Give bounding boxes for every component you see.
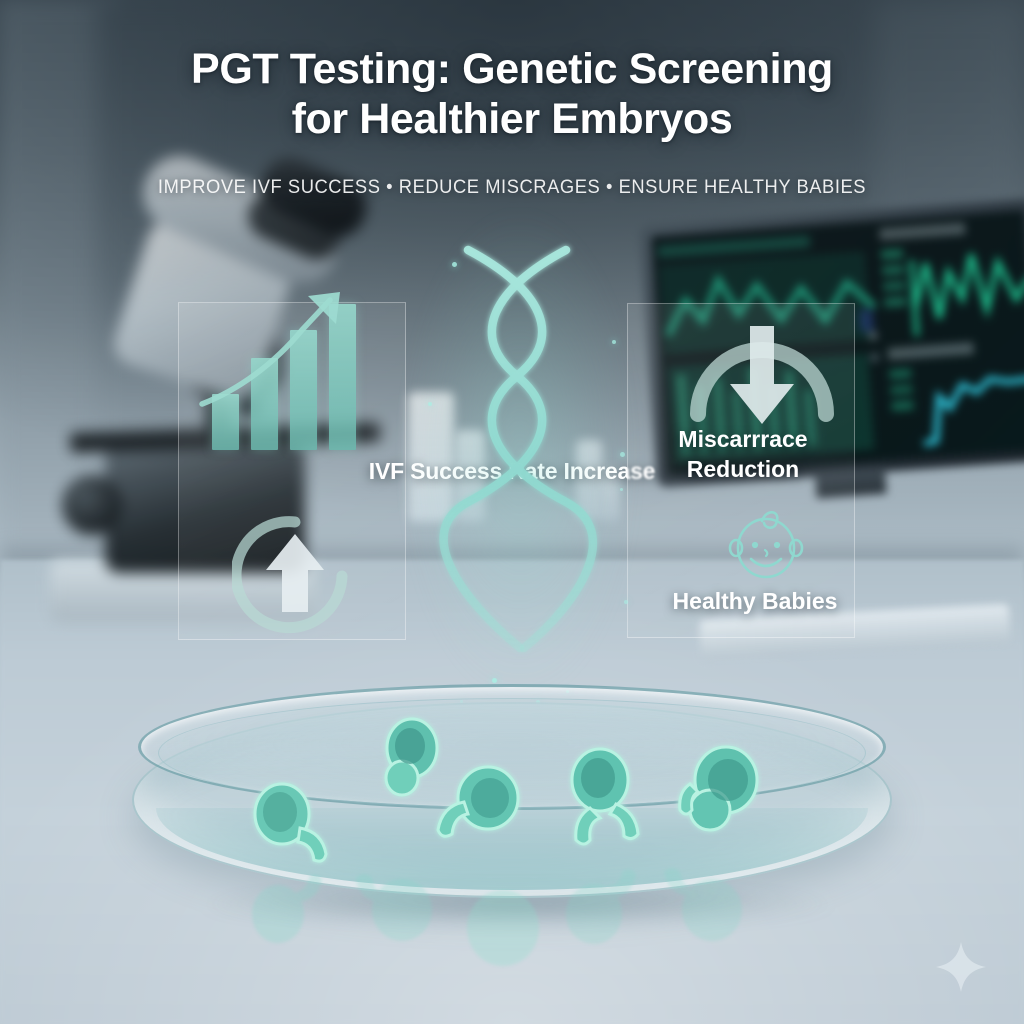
four-point-sparkle-icon	[934, 940, 988, 994]
arc-down-arrow-icon	[684, 298, 840, 428]
embryo	[426, 756, 536, 852]
miscarriage-label-line-2: Reduction	[687, 456, 799, 482]
embryo-reflection	[552, 856, 662, 946]
embryo-reflection	[350, 860, 446, 946]
poster-canvas: PGT Testing: Genetic Screening for Healt…	[0, 0, 1024, 1024]
embryo-reflection	[242, 866, 342, 944]
baby-face-icon	[720, 504, 812, 586]
dna-double-helix	[432, 236, 602, 666]
embryo-reflection	[650, 854, 760, 944]
headline-line-2: for Healthier Embryos	[70, 94, 954, 144]
embryo	[654, 740, 778, 848]
petri-dish	[132, 684, 892, 920]
particle	[492, 678, 497, 683]
particle	[620, 488, 623, 491]
embryo	[244, 780, 354, 872]
embryo	[552, 742, 670, 854]
card-label-healthy-babies: Healthy Babies	[612, 588, 898, 615]
page-title: PGT Testing: Genetic Screening for Healt…	[0, 44, 1024, 145]
page-subtitle: IMPROVE IVF SUCCESS • REDUCE MISCRAGES •…	[31, 176, 994, 199]
embryo-reflection	[448, 872, 558, 972]
card-label-miscarriage-reduction: Miscarrrace Reduction	[600, 424, 886, 485]
particle	[620, 452, 625, 457]
circular-up-arrow-icon	[232, 512, 358, 638]
particle	[612, 340, 616, 344]
trend-arrow-icon	[190, 286, 360, 416]
particle	[624, 600, 628, 604]
headline-line-1: PGT Testing: Genetic Screening	[191, 45, 833, 93]
miscarriage-label-line-1: Miscarrrace	[678, 426, 807, 452]
particle	[428, 402, 432, 406]
particle	[452, 262, 457, 267]
